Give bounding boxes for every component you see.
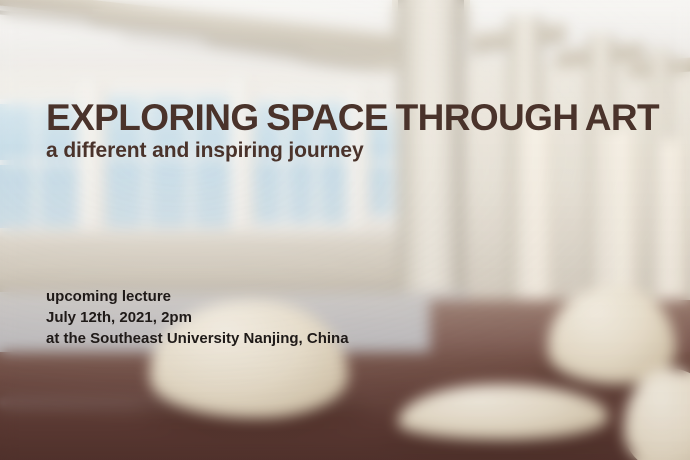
event-details: upcoming lecture July 12th, 2021, 2pm at… [46,286,349,349]
event-detail-datetime: July 12th, 2021, 2pm [46,307,349,328]
page-title: EXPLORING SPACE THROUGH ART [46,99,659,136]
event-detail-venue: at the Southeast University Nanjing, Chi… [46,328,349,349]
poster-canvas: EXPLORING SPACE THROUGH ART a different … [0,0,690,460]
page-subtitle: a different and inspiring journey [46,140,364,161]
event-detail-lecture-label: upcoming lecture [46,286,349,307]
poster-text-content: EXPLORING SPACE THROUGH ART a different … [0,0,690,460]
